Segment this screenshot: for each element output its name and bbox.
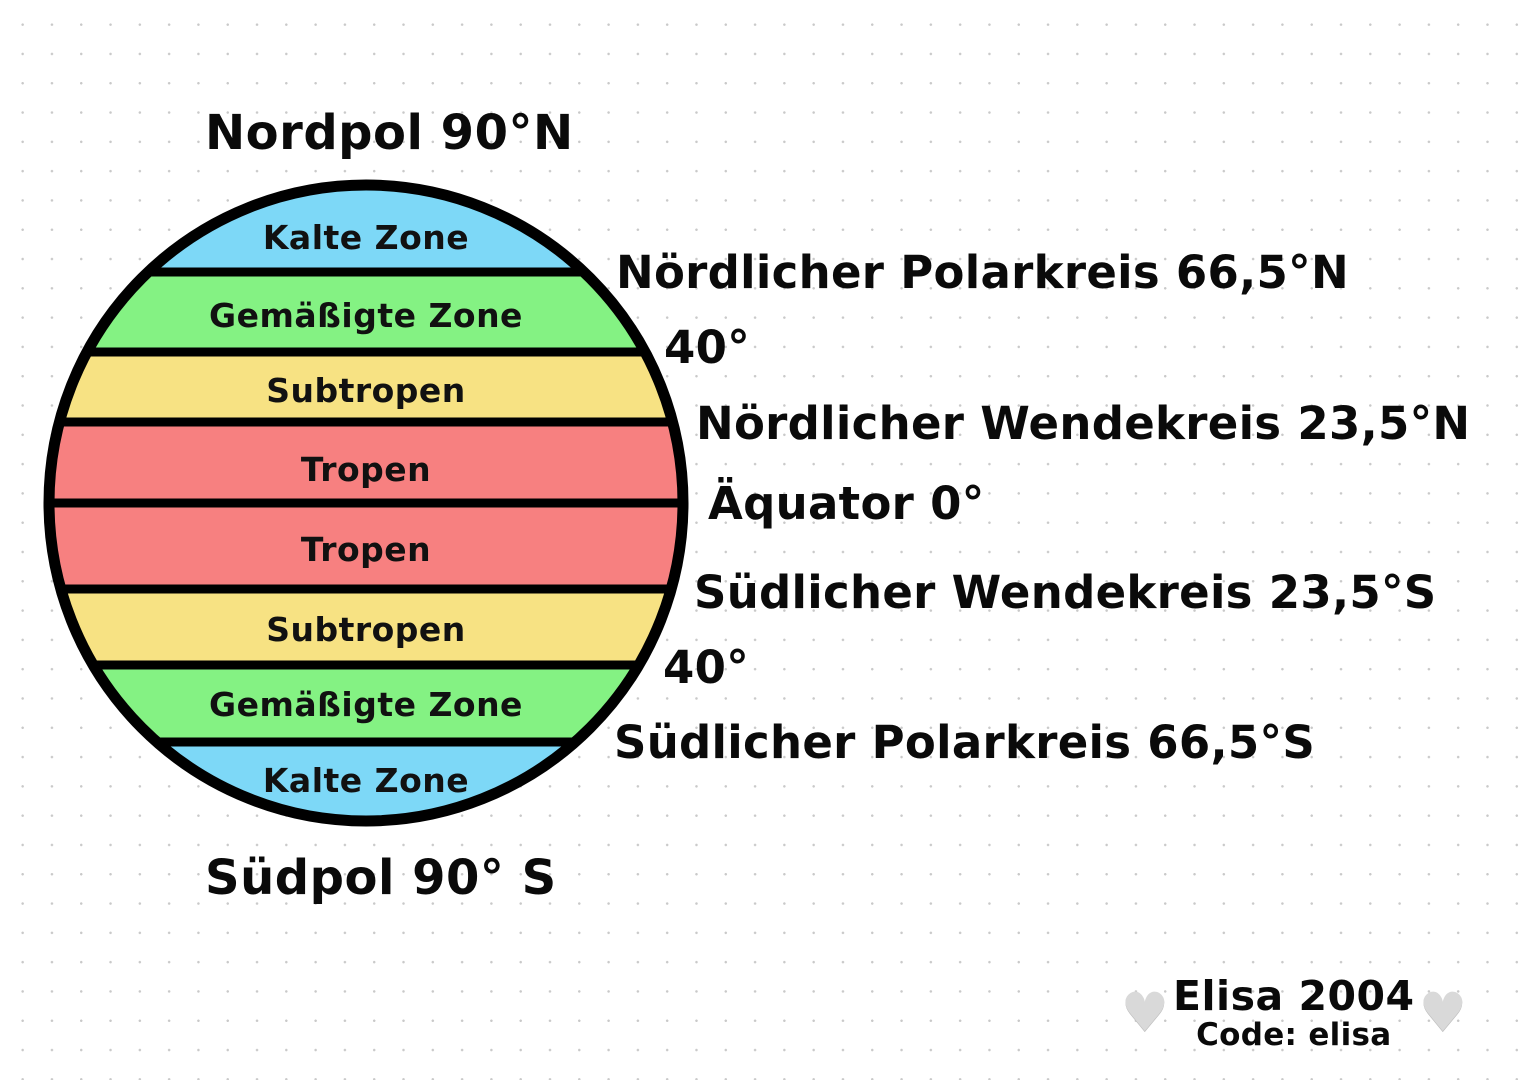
zone-band-south-tropic: [42, 503, 690, 589]
label-equator: Äquator 0°: [708, 477, 985, 530]
zone-band-north-cold: [42, 178, 690, 272]
climate-zone-globe: Kalte Zone Gemäßigte Zone Subtropen Trop…: [42, 178, 690, 828]
label-south-40-degrees: 40°: [663, 641, 749, 694]
globe-diagram: [42, 178, 690, 828]
heart-icon-right: ♥: [1419, 986, 1467, 1040]
zone-band-south-cold: [42, 742, 690, 828]
label-tropic-of-cancer: Nördlicher Wendekreis 23,5°N: [696, 397, 1470, 450]
worksheet-canvas: Nordpol 90°N: [0, 0, 1525, 1080]
south-pole-label: Südpol 90° S: [205, 850, 557, 906]
watermark: ♥ Elisa 2004 Code: elisa ♥: [1121, 975, 1467, 1052]
label-north-40-degrees: 40°: [664, 321, 750, 374]
watermark-name: Elisa 2004: [1173, 975, 1415, 1018]
north-pole-label: Nordpol 90°N: [205, 105, 574, 161]
label-tropic-of-capricorn: Südlicher Wendekreis 23,5°S: [694, 566, 1436, 619]
watermark-code: Code: elisa: [1196, 1018, 1391, 1052]
label-arctic-circle: Nördlicher Polarkreis 66,5°N: [616, 246, 1349, 299]
zone-band-north-subtropic: [42, 352, 690, 422]
watermark-text: Elisa 2004 Code: elisa: [1173, 975, 1415, 1052]
zone-band-south-subtropic: [42, 589, 690, 665]
heart-icon-left: ♥: [1121, 986, 1169, 1040]
label-antarctic-circle: Südlicher Polarkreis 66,5°S: [614, 716, 1315, 769]
zone-band-north-tropic: [42, 422, 690, 503]
